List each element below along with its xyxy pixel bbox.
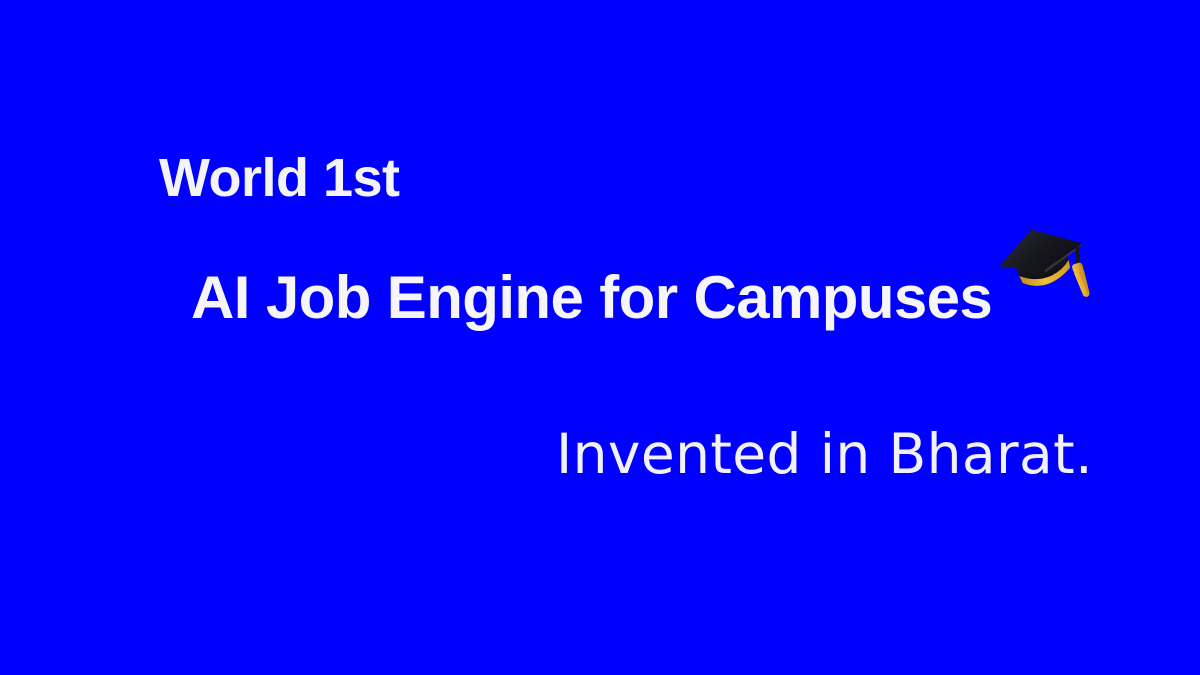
kicker-text: World 1st (159, 151, 400, 205)
promotional-banner: World 1st AI Job Engine for Campuses (0, 0, 1200, 675)
tagline-text: Invented in Bharat. (556, 424, 1093, 484)
page-title: AI Job Engine for Campuses (191, 265, 992, 331)
graduation-cap-icon (996, 220, 1092, 316)
headline-row: AI Job Engine for Campuses (191, 265, 1092, 331)
